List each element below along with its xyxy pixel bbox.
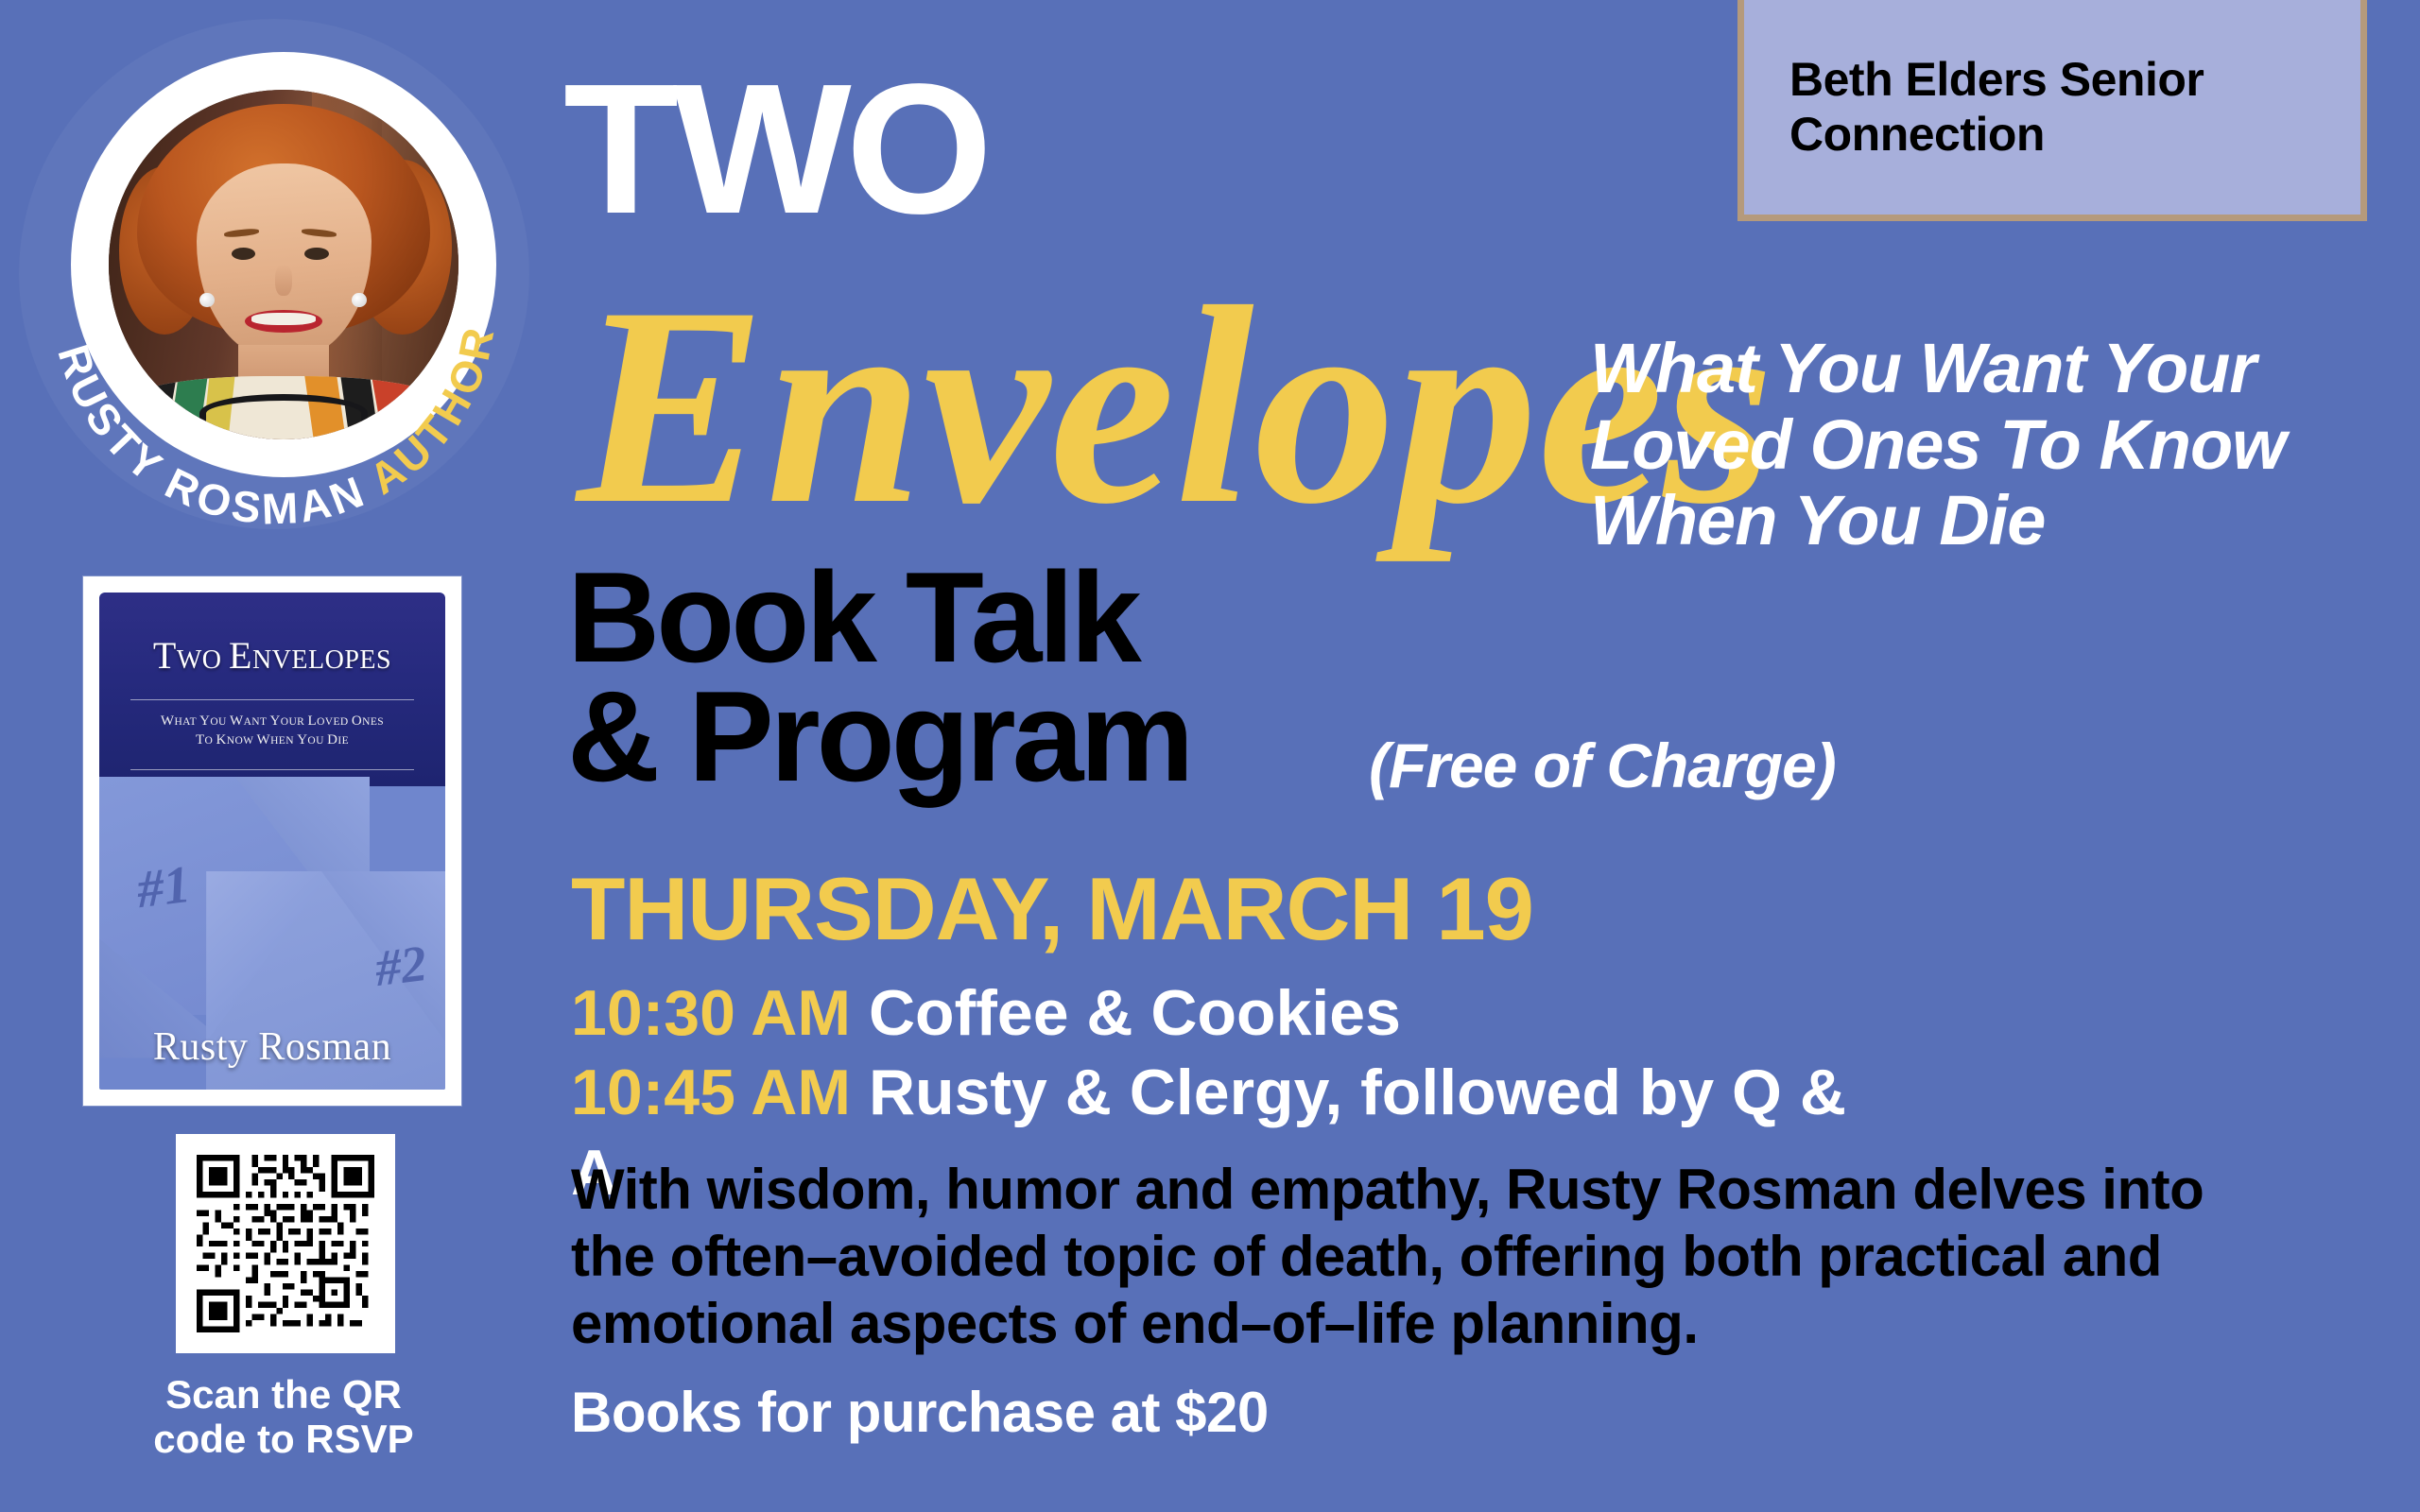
book-cover-image: TWO ENVELOPES WHAT YOU WANT YOUR LOVED O… [83, 576, 461, 1106]
envelope-one-label: #1 [133, 854, 193, 920]
tagline-line-2: Loved Ones To Know [1590, 405, 2286, 484]
sub-char: IE [337, 735, 349, 747]
event-date: THURSDAY, MARCH 19 [571, 858, 1533, 960]
event-description: With wisdom, humor and empathy, Rusty Ro… [571, 1157, 2235, 1357]
sub-char: Y [297, 732, 307, 747]
organization-badge: Beth Elders Senior Connection [1737, 0, 2367, 221]
sub-char: OU [210, 716, 230, 728]
sub-char: OVED [317, 716, 352, 728]
sub-char: Y [199, 713, 210, 729]
book-title-char: E [229, 634, 252, 677]
book-title-char: T [153, 634, 177, 677]
script-title-word: Envelopes [577, 189, 1626, 605]
qr-caption-line-1: Scan the QR [165, 1372, 402, 1417]
sub-char: HEN [270, 735, 297, 747]
schedule-time: 10:45 AM [571, 1057, 851, 1128]
tagline-line-1: What You Want Your [1590, 329, 2256, 407]
sub-char: W [161, 713, 175, 729]
sub-char: O [205, 735, 216, 747]
envelope-two-label: #2 [372, 934, 429, 998]
subtitle-tagline: What You Want Your Loved Ones To Know Wh… [1590, 331, 2420, 559]
book-title-char: WO [177, 645, 229, 675]
sub-char: HAT [174, 716, 199, 728]
qr-caption-line-2: code to RSVP [153, 1417, 413, 1461]
avatar [109, 90, 458, 439]
sub-char: OUR [281, 716, 308, 728]
left-sidebar: RUSTY ROSMAN AUTHOR TWO ENVELOPES WHAT Y… [0, 0, 567, 1512]
schedule-row: 10:30 AM Coffee & Cookies [571, 973, 1894, 1053]
sub-char: W [230, 713, 244, 729]
qr-code-icon[interactable] [197, 1155, 374, 1332]
qr-caption: Scan the QR code to RSVP [38, 1372, 529, 1461]
organization-name: Beth Elders Senior Connection [1789, 53, 2338, 162]
sub-char: K [216, 732, 227, 747]
book-title-char: NVELOPES [252, 645, 391, 675]
schedule-time: 10:30 AM [571, 977, 851, 1049]
organization-name-line-1: Beth Elders Senior [1789, 53, 2204, 106]
sub-char: W [257, 732, 271, 747]
schedule-activity: Coffee & Cookies [869, 977, 1401, 1049]
author-photo-frame [71, 52, 496, 477]
sub-char: T [196, 732, 205, 747]
organization-name-line-2: Connection [1789, 108, 2045, 161]
sub-char: D [327, 732, 337, 747]
book-cover-header [99, 593, 445, 786]
sub-char: OU [307, 735, 327, 747]
qr-code-container[interactable] [176, 1134, 395, 1353]
book-cover-author: Rusty Rosman [99, 1024, 445, 1070]
sub-char: Y [270, 713, 281, 729]
sub-char: NES [362, 716, 384, 728]
book-cover-subtitle: WHAT YOU WANT YOUR LOVED ONES TO KNOW WH… [120, 712, 424, 750]
sub-char: O [352, 713, 362, 729]
author-badge: RUSTY ROSMAN AUTHOR [19, 19, 529, 548]
book-cover-title: TWO ENVELOPES [99, 637, 445, 675]
sub-char: L [308, 713, 318, 729]
sub-char: ANT [244, 716, 270, 728]
book-price-note: Books for purchase at $20 [571, 1380, 1269, 1445]
free-of-charge-note: (Free of Charge) [1369, 730, 1836, 801]
event-flyer: RUSTY ROSMAN AUTHOR TWO ENVELOPES WHAT Y… [0, 0, 2420, 1512]
sub-char: NOW [227, 735, 257, 747]
event-heading-line-2: & Program [567, 664, 1190, 808]
tagline-line-3: When You Die [1590, 481, 2045, 559]
